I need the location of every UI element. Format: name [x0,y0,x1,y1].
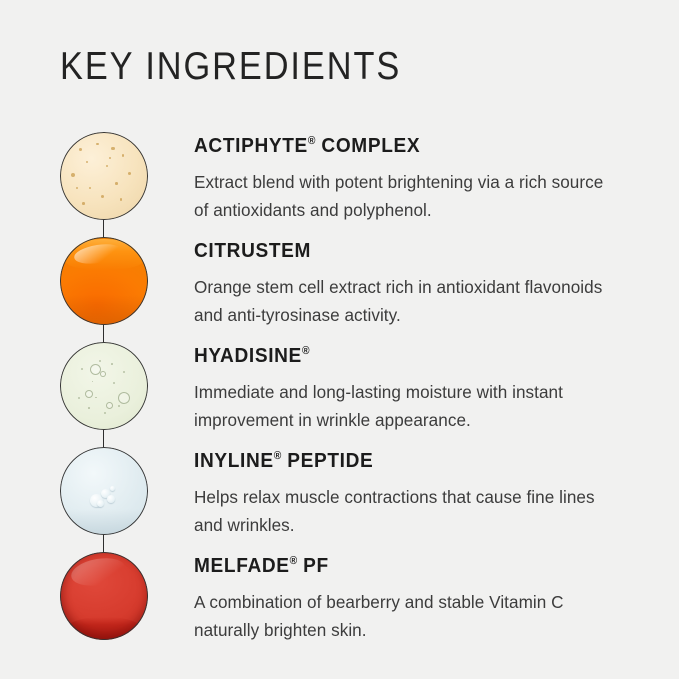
speck-icon [76,187,78,189]
speck-icon [111,363,113,365]
speck-icon [88,407,90,409]
connector-line-3-4 [103,430,104,447]
speck-icon [99,360,101,362]
ingredient-description: Immediate and long-lasting moisture with… [194,378,618,434]
speck-icon [113,382,115,384]
inyline-bottom-shade [60,509,148,535]
ingredient-description: A combination of bearberry and stable Vi… [194,588,618,644]
melfade-inner-shadow [60,552,148,640]
ingredient-heading: CITRUSTEM [194,241,594,262]
speck-icon [71,173,75,177]
melfade-swatch [60,552,148,640]
citrustem-highlight-cap [65,239,142,271]
speck-icon [96,143,99,146]
citrustem-swatch [60,237,148,325]
bubble-icon [90,364,101,375]
inyline-swatch [60,447,148,535]
connector-line-2-3 [103,325,104,342]
ingredient-description: Orange stem cell extract rich in antioxi… [194,273,618,329]
ingredient-description: Extract blend with potent brightening vi… [194,168,618,224]
page-title: KEY INGREDIENTS [60,47,401,86]
speck-icon [78,397,80,399]
droplet-icon [107,495,115,503]
ingredient-swatch-rail [58,132,150,650]
citrustem-bottom-shade [60,295,148,325]
droplet-icon [110,486,115,491]
speck-icon [122,154,125,157]
ingredient-heading: ACTIPHYTE® COMPLEX [194,136,594,157]
speck-icon [95,397,97,399]
droplet-icon [97,500,104,507]
ingredient-entry-inyline: INYLINE® PEPTIDE Helps relax muscle cont… [194,451,624,539]
connector-line-1-2 [103,220,104,237]
ingredient-heading: MELFADE® PF [194,556,594,577]
ingredient-entry-citrustem: CITRUSTEM Orange stem cell extract rich … [194,241,624,329]
ingredient-entry-actiphyte: ACTIPHYTE® COMPLEX Extract blend with po… [194,136,624,224]
hyadisine-swatch-fill [60,342,148,430]
speck-icon [82,202,85,205]
speck-icon [120,198,123,201]
ingredient-description: Helps relax muscle contractions that cau… [194,483,618,539]
ingredient-heading: HYADISINE® [194,346,594,367]
hyadisine-swatch [60,342,148,430]
ingredient-entry-hyadisine: HYADISINE® Immediate and long-lasting mo… [194,346,624,434]
key-ingredients-panel: KEY INGREDIENTS [0,0,679,679]
connector-line-4-5 [103,535,104,552]
ingredient-entry-melfade: MELFADE® PF A combination of bearberry a… [194,556,624,644]
actiphyte-swatch [60,132,148,220]
bubble-icon [106,402,113,409]
ingredient-heading: INYLINE® PEPTIDE [194,451,594,472]
speck-icon [115,182,118,185]
